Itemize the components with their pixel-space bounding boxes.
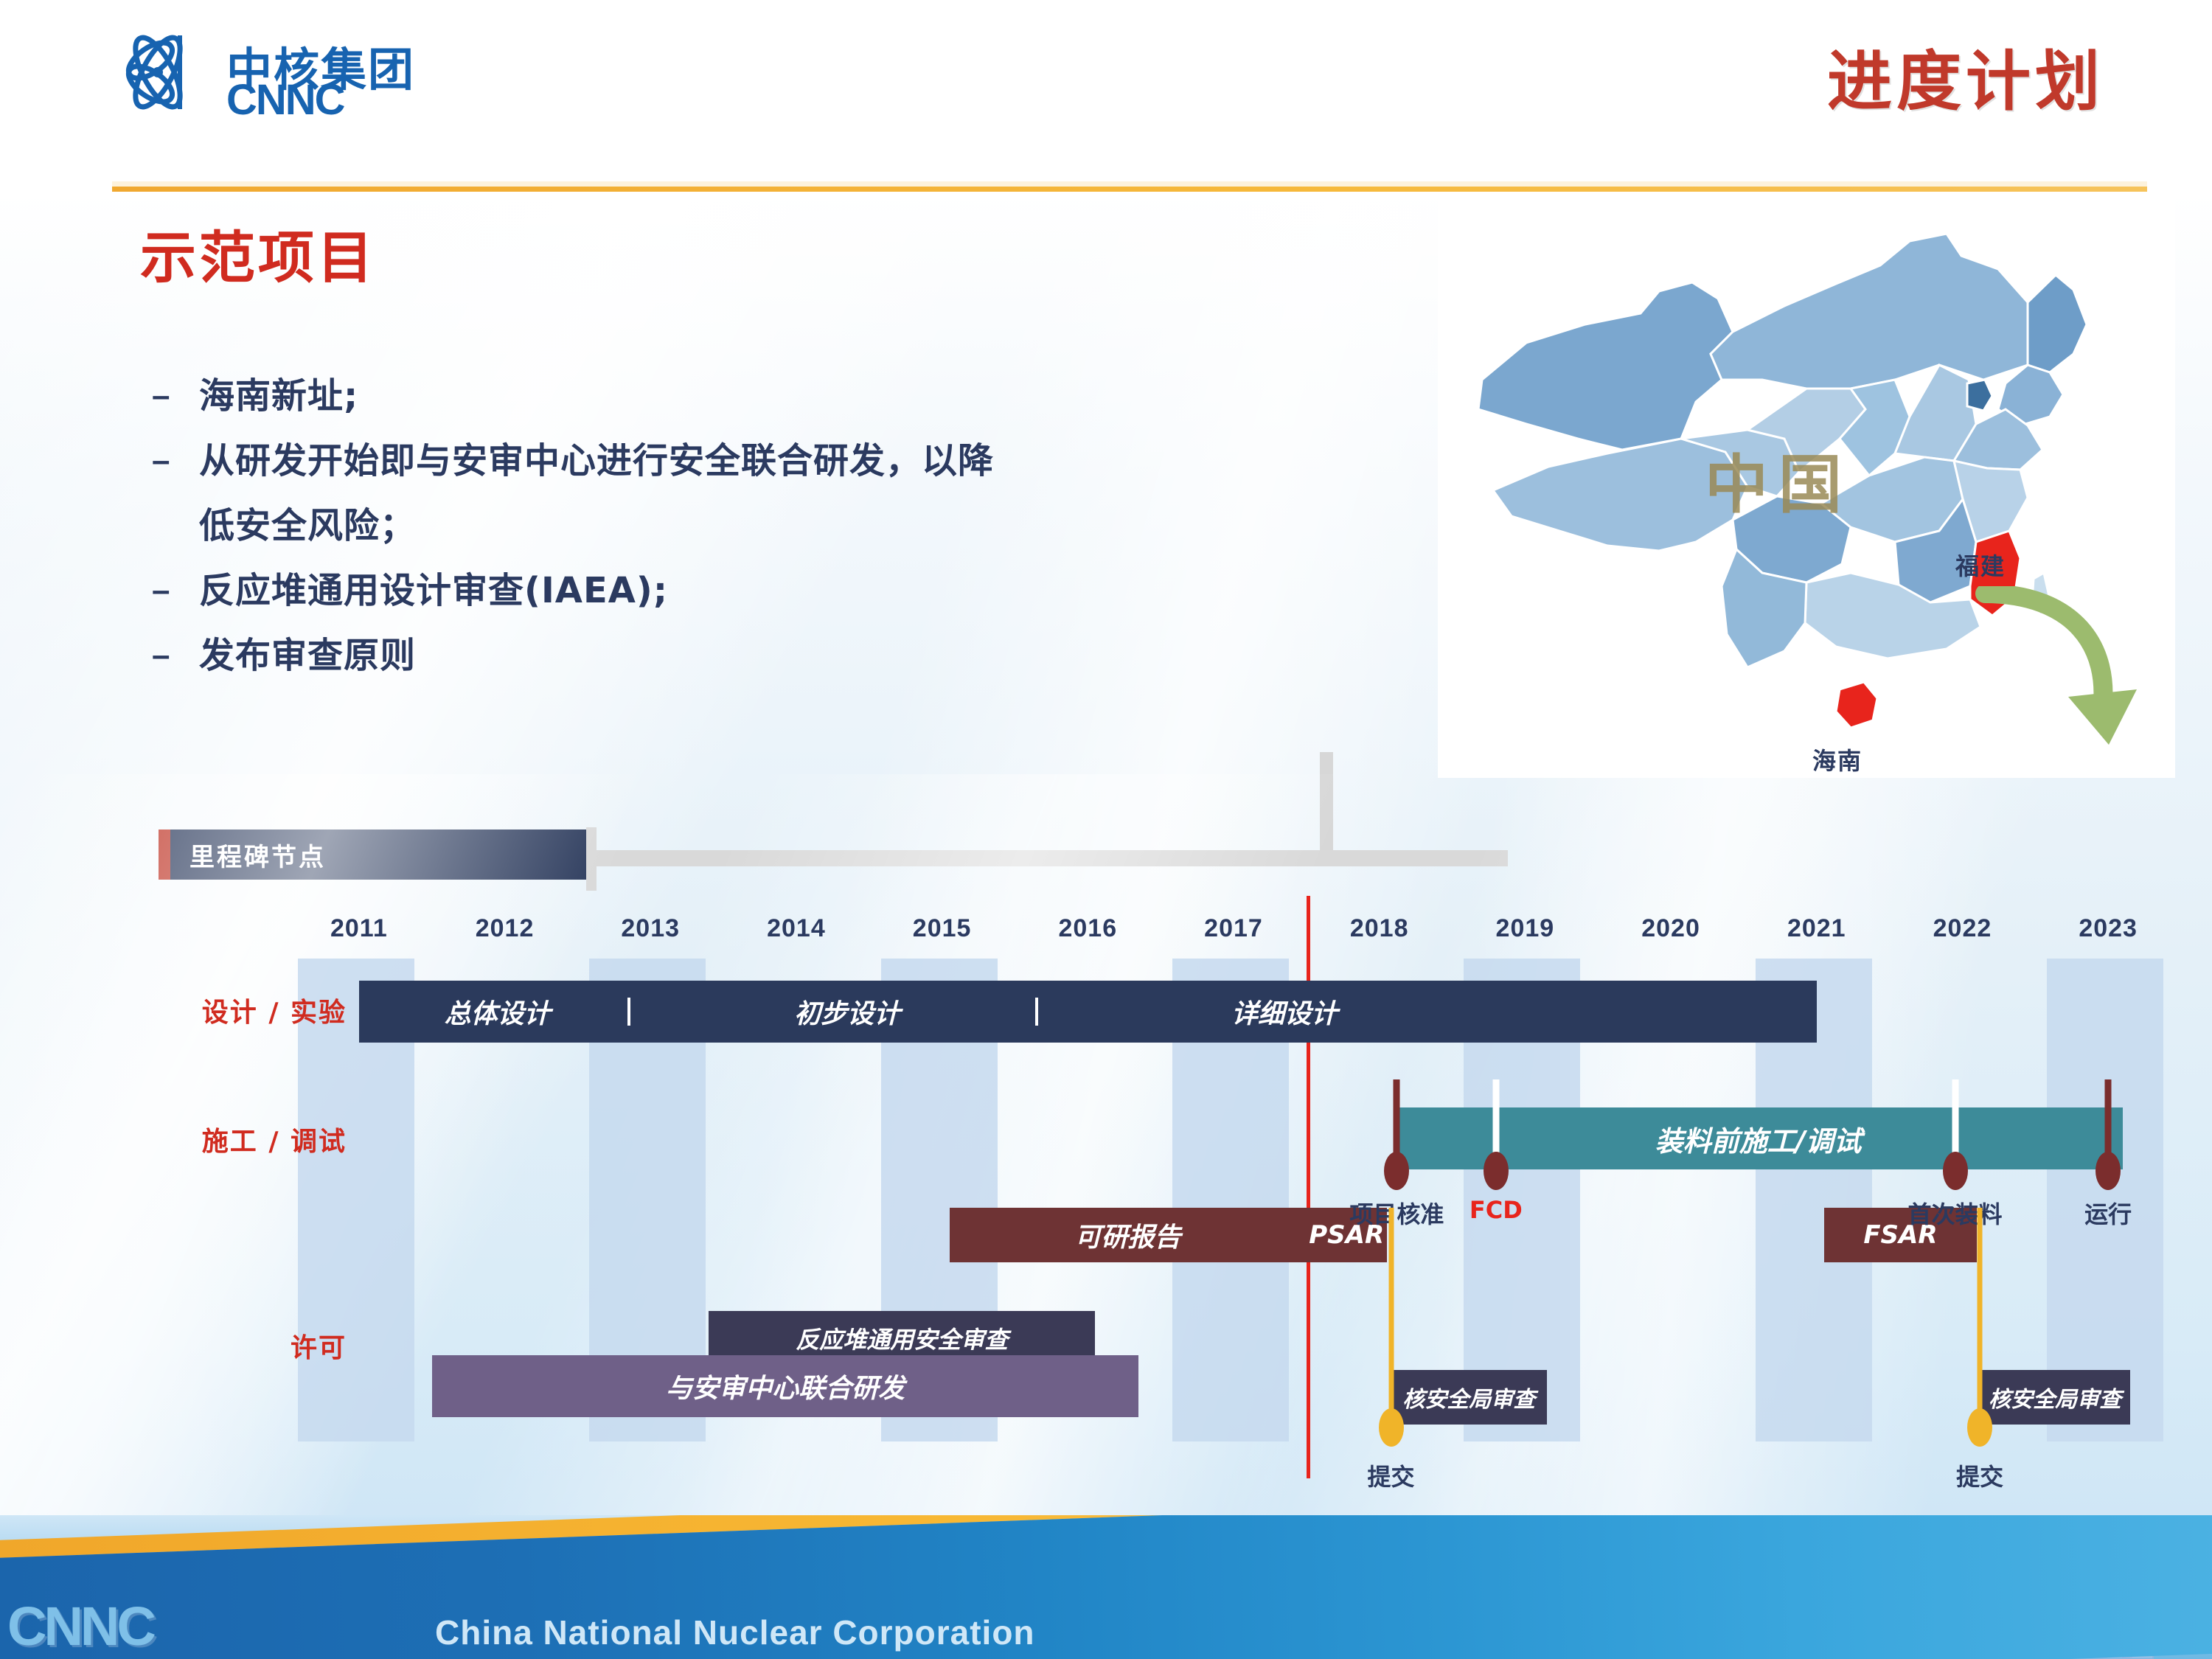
- gantt-milestone-pin-icon: [1379, 1408, 1404, 1447]
- bullet-dash: –: [152, 369, 199, 423]
- gantt-year-2020: 2020: [1641, 914, 1700, 943]
- gantt-bar-design[interactable]: [359, 981, 1817, 1043]
- list-item: – 从研发开始即与安审中心进行安全联合研发，以降: [152, 434, 1405, 488]
- bullet-dash: –: [152, 434, 199, 488]
- gantt-year-2023: 2023: [2079, 914, 2138, 943]
- gantt-segment-label-preliminary: 初步设计: [794, 992, 900, 1031]
- connector-horizontal: [586, 850, 1508, 866]
- gantt-segment-label-overall: 总体设计: [445, 992, 551, 1031]
- gantt-bar-nnsa-review-psar[interactable]: 核安全局审查: [1391, 1370, 1548, 1425]
- bullet-dash: –: [152, 563, 199, 618]
- bullet-text: 低安全风险；: [199, 498, 416, 553]
- map-label-fujian: 福建: [1955, 548, 2006, 582]
- gantt-year-2015: 2015: [913, 914, 972, 943]
- footer-logo: CNNC: [7, 1595, 153, 1658]
- footer-company-name: China National Nuclear Corporation: [435, 1613, 1035, 1652]
- bullet-text: 反应堆通用设计审查(IAEA);: [199, 563, 668, 618]
- gantt-milestone-label: 提交: [1956, 1458, 2003, 1492]
- gantt-chart: 2011201220132014201520162017201820192020…: [0, 914, 2212, 1504]
- bullet-text: 从研发开始即与安审中心进行安全联合研发，以降: [199, 434, 994, 488]
- gantt-segment-divider: [627, 998, 630, 1026]
- brand-en-text: CNNC: [226, 75, 344, 125]
- gantt-milestone-pin-icon: [1484, 1152, 1509, 1190]
- slide-root: 中核集团 CNNC 进度计划 示范项目 – 海南新址; – 从研发开始即与安审中…: [0, 0, 2212, 1659]
- gantt-year-2017: 2017: [1204, 914, 1263, 943]
- gantt-year-2014: 2014: [767, 914, 826, 943]
- gantt-year-2011: 2011: [330, 914, 388, 943]
- gantt-row-label-license: 许可: [96, 1326, 347, 1365]
- gantt-year-2013: 2013: [621, 914, 680, 943]
- map-label-hainan: 海南: [1812, 742, 1863, 776]
- milestone-banner: 里程碑节点: [159, 829, 586, 880]
- green-arrow-icon: [1954, 586, 2146, 771]
- china-map: 中国 福建 海南: [1438, 195, 2175, 778]
- gantt-milestone-label: 提交: [1367, 1458, 1414, 1492]
- gantt-year-2018: 2018: [1350, 914, 1409, 943]
- gantt-milestone-label: 项目核准: [1349, 1196, 1444, 1230]
- gantt-bar-joint-rd[interactable]: 与安审中心联合研发: [432, 1355, 1139, 1417]
- bullet-list: – 海南新址; – 从研发开始即与安审中心进行安全联合研发，以降 低安全风险； …: [152, 369, 1405, 693]
- gantt-milestone-label: 首次装料: [1908, 1196, 2003, 1230]
- gantt-milestone-pin-icon: [1943, 1152, 1968, 1190]
- list-item: – 发布审查原则: [152, 628, 1405, 683]
- gantt-milestone-label: FCD: [1470, 1196, 1523, 1224]
- gantt-row-label-construction: 施工 / 调试: [96, 1120, 347, 1158]
- list-item-continuation: 低安全风险；: [152, 498, 1405, 553]
- bullet-text: 发布审查原则: [199, 628, 416, 683]
- gantt-year-2021: 2021: [1787, 914, 1846, 943]
- bullet-text: 海南新址;: [199, 369, 358, 423]
- milestone-banner-label: 里程碑节点: [170, 829, 586, 880]
- header-rule-shadow: [112, 181, 2147, 187]
- map-watermark-label: 中国: [1705, 433, 1852, 525]
- gantt-milestone-pin-icon: [1384, 1152, 1409, 1190]
- gantt-bar-nnsa-review-fsar[interactable]: 核安全局审查: [1980, 1370, 2130, 1425]
- gantt-milestone-pin-icon: [1967, 1408, 1992, 1447]
- bullet-dash: –: [152, 628, 199, 683]
- gantt-milestone-stem: [1978, 1208, 1983, 1423]
- slide-footer: CNNC China National Nuclear Corporation: [0, 1515, 2212, 1659]
- section-title: 示范项目: [140, 212, 376, 293]
- page-title: 进度计划: [1827, 29, 2104, 123]
- gantt-year-2012: 2012: [476, 914, 535, 943]
- gantt-segment-divider: [1035, 998, 1038, 1026]
- gantt-year-2016: 2016: [1058, 914, 1117, 943]
- gantt-milestone-stem: [1388, 1208, 1394, 1423]
- gantt-year-2019: 2019: [1496, 914, 1555, 943]
- header-rule: [112, 187, 2147, 192]
- gantt-milestone-label: 运行: [2084, 1196, 2132, 1230]
- gantt-milestone-pin-icon: [2096, 1152, 2121, 1190]
- cnnc-logo: 中核集团 CNNC: [112, 31, 459, 112]
- list-item: – 海南新址;: [152, 369, 1405, 423]
- gantt-year-2022: 2022: [1933, 914, 1992, 943]
- gantt-segment-label-detailed: 详细设计: [1231, 992, 1338, 1031]
- connector-vertical: [1320, 752, 1333, 859]
- banner-accent-bar: [159, 829, 170, 880]
- gantt-row-label-design: 设计 / 实验: [96, 991, 347, 1029]
- atom-icon: [112, 31, 223, 114]
- list-item: – 反应堆通用设计审查(IAEA);: [152, 563, 1405, 618]
- gantt-bar-feasibility[interactable]: 可研报告: [950, 1208, 1307, 1262]
